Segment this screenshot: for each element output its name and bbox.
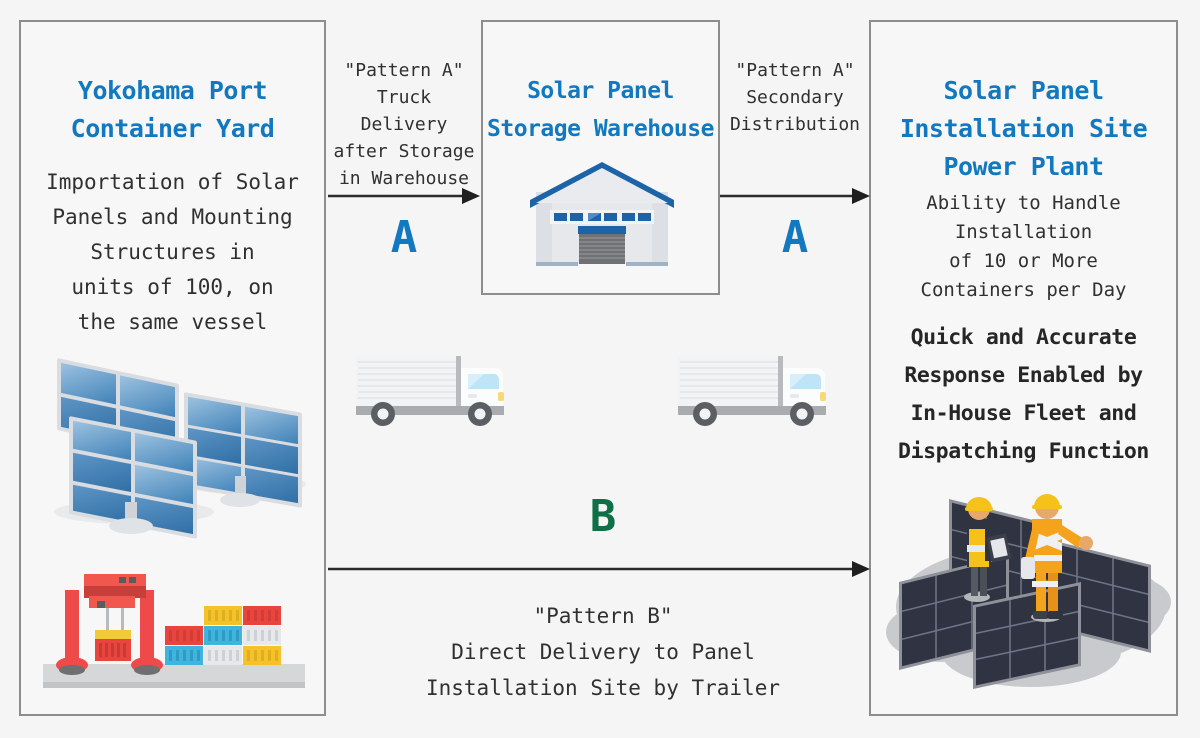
flow-a1-arrow bbox=[326, 183, 482, 213]
diagram-canvas: Yokohama Port Container Yard Importation… bbox=[0, 0, 1200, 738]
port-title: Yokohama Port Container Yard bbox=[21, 72, 324, 148]
flow-a1-letter: A bbox=[330, 216, 478, 260]
flow-b-arrow bbox=[326, 556, 872, 586]
site-highlight-text: Quick and Accurate Response Enabled by I… bbox=[877, 319, 1170, 471]
box-yokohama-port-container-yard: Yokohama Port Container Yard Importation… bbox=[19, 20, 326, 716]
box-solar-panel-installation-site-power-plant: Solar Panel Installation Site Power Plan… bbox=[869, 20, 1178, 716]
flow-a2-arrow bbox=[718, 183, 872, 213]
flow-a2-label: "Pattern A" Secondary Distribution bbox=[722, 57, 868, 138]
flow-b-label: "Pattern B" Direct Delivery to Panel Ins… bbox=[340, 598, 866, 706]
flow-b-letter: B bbox=[340, 495, 866, 539]
warehouse-title: Solar Panel Storage Warehouse bbox=[483, 72, 718, 148]
box-solar-panel-storage-warehouse: Solar Panel Storage Warehouse bbox=[481, 20, 720, 295]
port-description: Importation of Solar Panels and Mounting… bbox=[29, 165, 316, 340]
delivery-truck-a2-icon bbox=[674, 348, 844, 436]
port-crane-containers-icon bbox=[33, 560, 313, 699]
site-title: Solar Panel Installation Site Power Plan… bbox=[871, 72, 1176, 186]
flow-a1-label: "Pattern A" Truck Delivery after Storage… bbox=[330, 57, 478, 192]
delivery-truck-a1-icon bbox=[352, 348, 522, 436]
warehouse-building-icon bbox=[524, 148, 680, 278]
site-description: Ability to Handle Installation of 10 or … bbox=[879, 189, 1168, 305]
flow-a2-letter: A bbox=[722, 216, 868, 260]
workers-installing-solar-panels-icon bbox=[881, 457, 1171, 711]
solar-panels-array-icon bbox=[39, 344, 311, 548]
